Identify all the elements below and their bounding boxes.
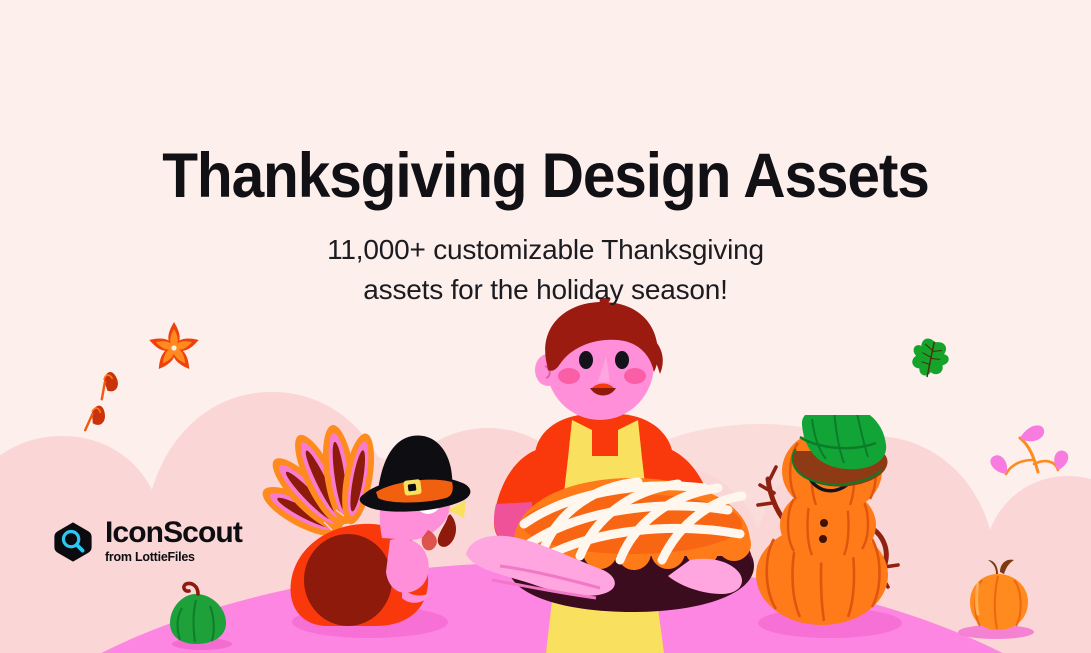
page-subtitle-line-1: 11,000+ customizable Thanksgiving: [0, 230, 1091, 270]
iconscout-logo-lockup[interactable]: IconScout from LottieFiles: [52, 518, 242, 565]
headline-block: Thanksgiving Design Assets 11,000+ custo…: [0, 140, 1091, 310]
logo-text-group: IconScout from LottieFiles: [105, 518, 242, 565]
falling-leaf-icon-2: [80, 405, 107, 431]
pink-leaf-sprig-icon: [990, 425, 1068, 474]
boy-head: [535, 298, 663, 420]
page-title: Thanksgiving Design Assets: [38, 140, 1053, 212]
page-subtitle-line-2: assets for the holiday season!: [0, 270, 1091, 310]
logo-tagline: from LottieFiles: [105, 550, 242, 565]
green-gourd: [160, 578, 238, 650]
page-subtitle: 11,000+ customizable Thanksgiving assets…: [0, 230, 1091, 310]
magnifier-hexagon-icon: [52, 521, 94, 563]
logo-wordmark: IconScout: [105, 518, 242, 548]
oak-leaf-icon: [907, 335, 953, 382]
thanksgiving-banner: Thanksgiving Design Assets 11,000+ custo…: [0, 0, 1091, 653]
orange-pumpkin: [944, 556, 1044, 640]
boy-holding-pie-character: [440, 298, 770, 653]
star-anise-flower-icon: [148, 322, 201, 372]
falling-leaf-icon-1: [92, 370, 122, 399]
